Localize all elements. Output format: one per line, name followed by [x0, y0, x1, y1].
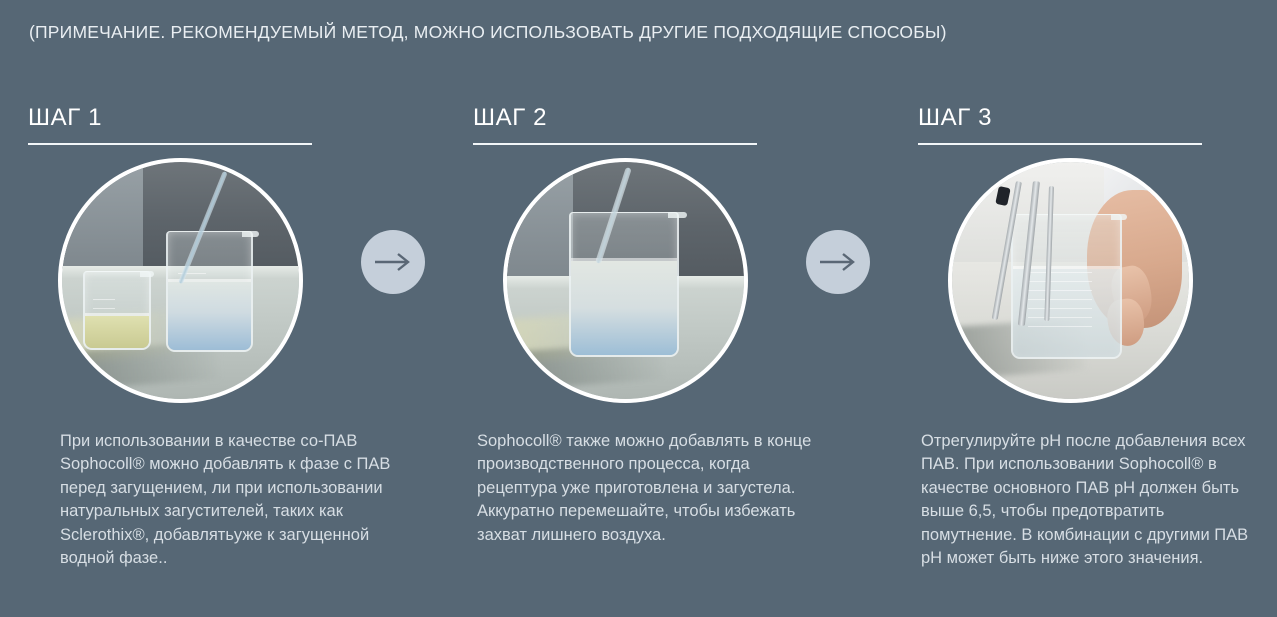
large-beaker-liquid: [168, 282, 251, 351]
small-beaker-liquid: [85, 316, 149, 348]
step-3-title: ШАГ 3: [918, 104, 1203, 143]
scene-wall-highlight: [62, 162, 143, 271]
large-beaker-lip: [242, 231, 259, 237]
small-beaker: [83, 271, 151, 350]
step-3-photo-scene: [952, 162, 1189, 399]
arrow-right-icon: [806, 230, 870, 294]
steps-container: ШАГ 1: [0, 0, 1277, 617]
arrow-right-icon: [361, 230, 425, 294]
step-2-photo: [503, 158, 748, 403]
large-beaker: [569, 212, 680, 357]
beaker-liquid: [571, 261, 678, 355]
beaker-lip: [1111, 214, 1128, 220]
step-1-photo: [58, 158, 303, 403]
step-1-header: ШАГ 1: [28, 104, 313, 145]
step-1-caption: При использовании в качестве со-ПАВ Soph…: [60, 430, 410, 571]
step-2-title: ШАГ 2: [473, 104, 758, 143]
step-3-caption: Отрегулируйте pH после добавления всех П…: [921, 430, 1256, 571]
beaker-surface: [571, 258, 678, 261]
step-1-divider: [28, 143, 312, 145]
step-3-photo: [948, 158, 1193, 403]
small-beaker-surface: [85, 313, 149, 316]
step-1-photo-scene: [62, 162, 299, 399]
step-2-header: ШАГ 2: [473, 104, 758, 145]
large-beaker: [166, 231, 253, 353]
beaker-lip: [668, 212, 687, 218]
scene-wall-highlight: [507, 162, 573, 281]
step-2-divider: [473, 143, 757, 145]
step-3-divider: [918, 143, 1202, 145]
small-beaker-lip: [140, 271, 154, 277]
step-3-header: ШАГ 3: [918, 104, 1203, 145]
step-2-caption: Sophocoll® также можно добавлять в конце…: [477, 430, 812, 547]
step-1-title: ШАГ 1: [28, 104, 313, 143]
beaker-graduations: [1028, 272, 1092, 332]
step-2-photo-scene: [507, 162, 744, 399]
